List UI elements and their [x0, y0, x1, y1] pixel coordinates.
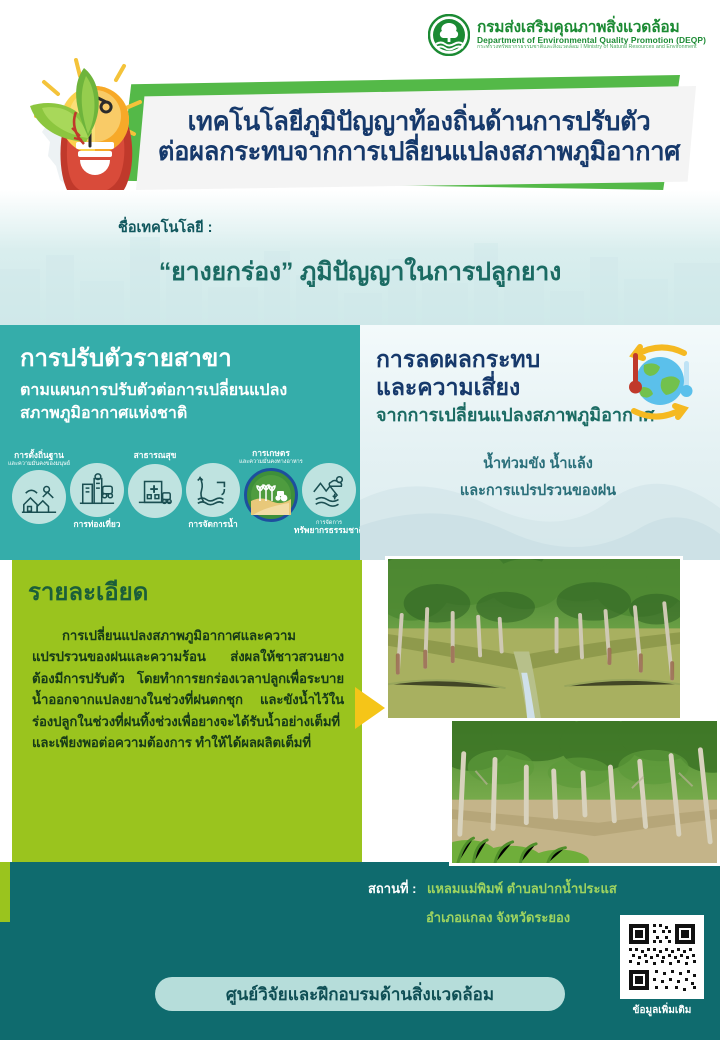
mitigation-panel: การลดผลกระทบ และความเสี่ยง จากการเปลี่ยน…	[360, 325, 720, 560]
sector-caption-tourism: การท่องเที่ยว	[56, 520, 138, 530]
location-line-1: แหลมแม่พิมพ์ ตำบลปากน้ำประแส	[427, 878, 617, 899]
technology-name: “ยางยกร่อง” ภูมิปัญญาในการปลูกยาง	[0, 252, 720, 292]
org-name-th: กรมส่งเสริมคุณภาพสิ่งแวดล้อม	[477, 20, 706, 36]
risk-line-1: น้ำท่วมขัง น้ำแล้ง	[376, 451, 700, 477]
deqp-tree-water-seal-icon	[428, 14, 470, 56]
qr-caption: ข้อมูลเพิ่มเติม	[612, 1003, 712, 1018]
climate-risks: น้ำท่วมขัง น้ำแล้ง และการแปรปรวนของฝน	[376, 451, 706, 503]
globe-thermometer-warming-icon	[610, 339, 706, 425]
adaptation-panel: การปรับตัวรายสาขา ตามแผนการปรับตัวต่อการ…	[0, 325, 360, 560]
poster-title-line-2: ต่อผลกระทบจากการเปลี่ยนแปลงสภาพภูมิอากาศ	[158, 137, 680, 167]
sector-item-water-management[interactable]: การจัดการน้ำ	[186, 463, 240, 530]
title-banner: เทคโนโลยีภูมิปัญญาท้องถิ่นด้านการปรับตัว…	[136, 86, 696, 190]
tourism-city-bus-car-icon	[70, 463, 124, 517]
rubber-plantation-with-drainage-furrow-photo	[385, 556, 683, 721]
adaptation-subheading-2: สภาพภูมิอากาศแห่งชาติ	[20, 402, 344, 425]
agriculture-wheat-tractor-icon	[244, 468, 298, 522]
sector-caption-natural-resources: การจัดการ ทรัพยากรธรรมชาติ	[288, 520, 360, 536]
sector-item-agriculture[interactable]: การเกษตร และความมั่นคงทางอาหาร	[244, 449, 298, 522]
technology-name-band: ชื่อเทคโนโลยี : “ยางยกร่อง” ภูมิปัญญาในก…	[0, 190, 720, 325]
qr-code-icon[interactable]	[620, 915, 704, 999]
arrow-right-icon	[355, 685, 391, 731]
technology-label: ชื่อเทคโนโลยี :	[118, 216, 213, 239]
footer-organization-pill[interactable]: ศูนย์วิจัยและฝึกอบรมด้านสิ่งแวดล้อม	[155, 977, 565, 1011]
water-management-river-tap-icon	[186, 463, 240, 517]
sector-item-tourism[interactable]: การท่องเที่ยว	[70, 463, 124, 530]
adaptation-subheading-1: ตามแผนการปรับตัวต่อการเปลี่ยนแปลง	[20, 379, 344, 402]
deqp-logo: กรมส่งเสริมคุณภาพสิ่งแวดล้อม Department …	[428, 14, 706, 56]
details-body: การเปลี่ยนแปลงสภาพภูมิอากาศและความแปรปรว…	[26, 619, 352, 763]
risk-line-2: และการแปรปรวนของฝน	[376, 478, 700, 504]
green-accent-bar	[0, 862, 10, 922]
adaptation-heading: การปรับตัวรายสาขา	[20, 345, 344, 374]
details-heading: รายละเอียด	[12, 560, 362, 615]
org-ministry: กระทรวงทรัพยากรธรรมชาติและสิ่งแวดล้อม I …	[477, 45, 706, 51]
poster-title-line-1: เทคโนโลยีภูมิปัญญาท้องถิ่นด้านการปรับตัว	[188, 107, 651, 137]
poster-root: เทคโนโลยีภูมิปัญญาท้องถิ่นด้านการปรับตัว…	[0, 0, 720, 1040]
sector-caption-settlement: การตั้งถิ่นฐาน และความมั่นคงของมนุษย์	[0, 451, 80, 467]
sector-caption-public-health: สาธารณสุข	[114, 451, 196, 461]
footer-organization-label: ศูนย์วิจัยและฝึกอบรมด้านสิ่งแวดล้อม	[226, 981, 494, 1008]
settlement-houses-icon	[12, 470, 66, 524]
rubber-plantation-rows-photo	[449, 718, 720, 866]
sector-item-natural-resources[interactable]: การจัดการ ทรัพยากรธรรมชาติ	[302, 463, 356, 536]
sector-caption-agriculture: การเกษตร และความมั่นคงทางอาหาร	[230, 449, 312, 465]
public-health-hospital-icon	[128, 464, 182, 518]
sector-icon-row: การตั้งถิ่นฐาน และความมั่นคงของมนุษย์	[8, 445, 360, 557]
sector-item-settlement[interactable]: การตั้งถิ่นฐาน และความมั่นคงของมนุษย์	[12, 451, 66, 524]
footer-panel: สถานที่ : แหลมแม่พิมพ์ ตำบลปากน้ำประแส อ…	[0, 862, 720, 1040]
natural-resources-mountain-icon	[302, 463, 356, 517]
location-label: สถานที่ :	[368, 878, 417, 899]
sector-item-public-health[interactable]: สาธารณสุข	[128, 451, 182, 518]
sector-caption-water-management: การจัดการน้ำ	[172, 520, 254, 530]
